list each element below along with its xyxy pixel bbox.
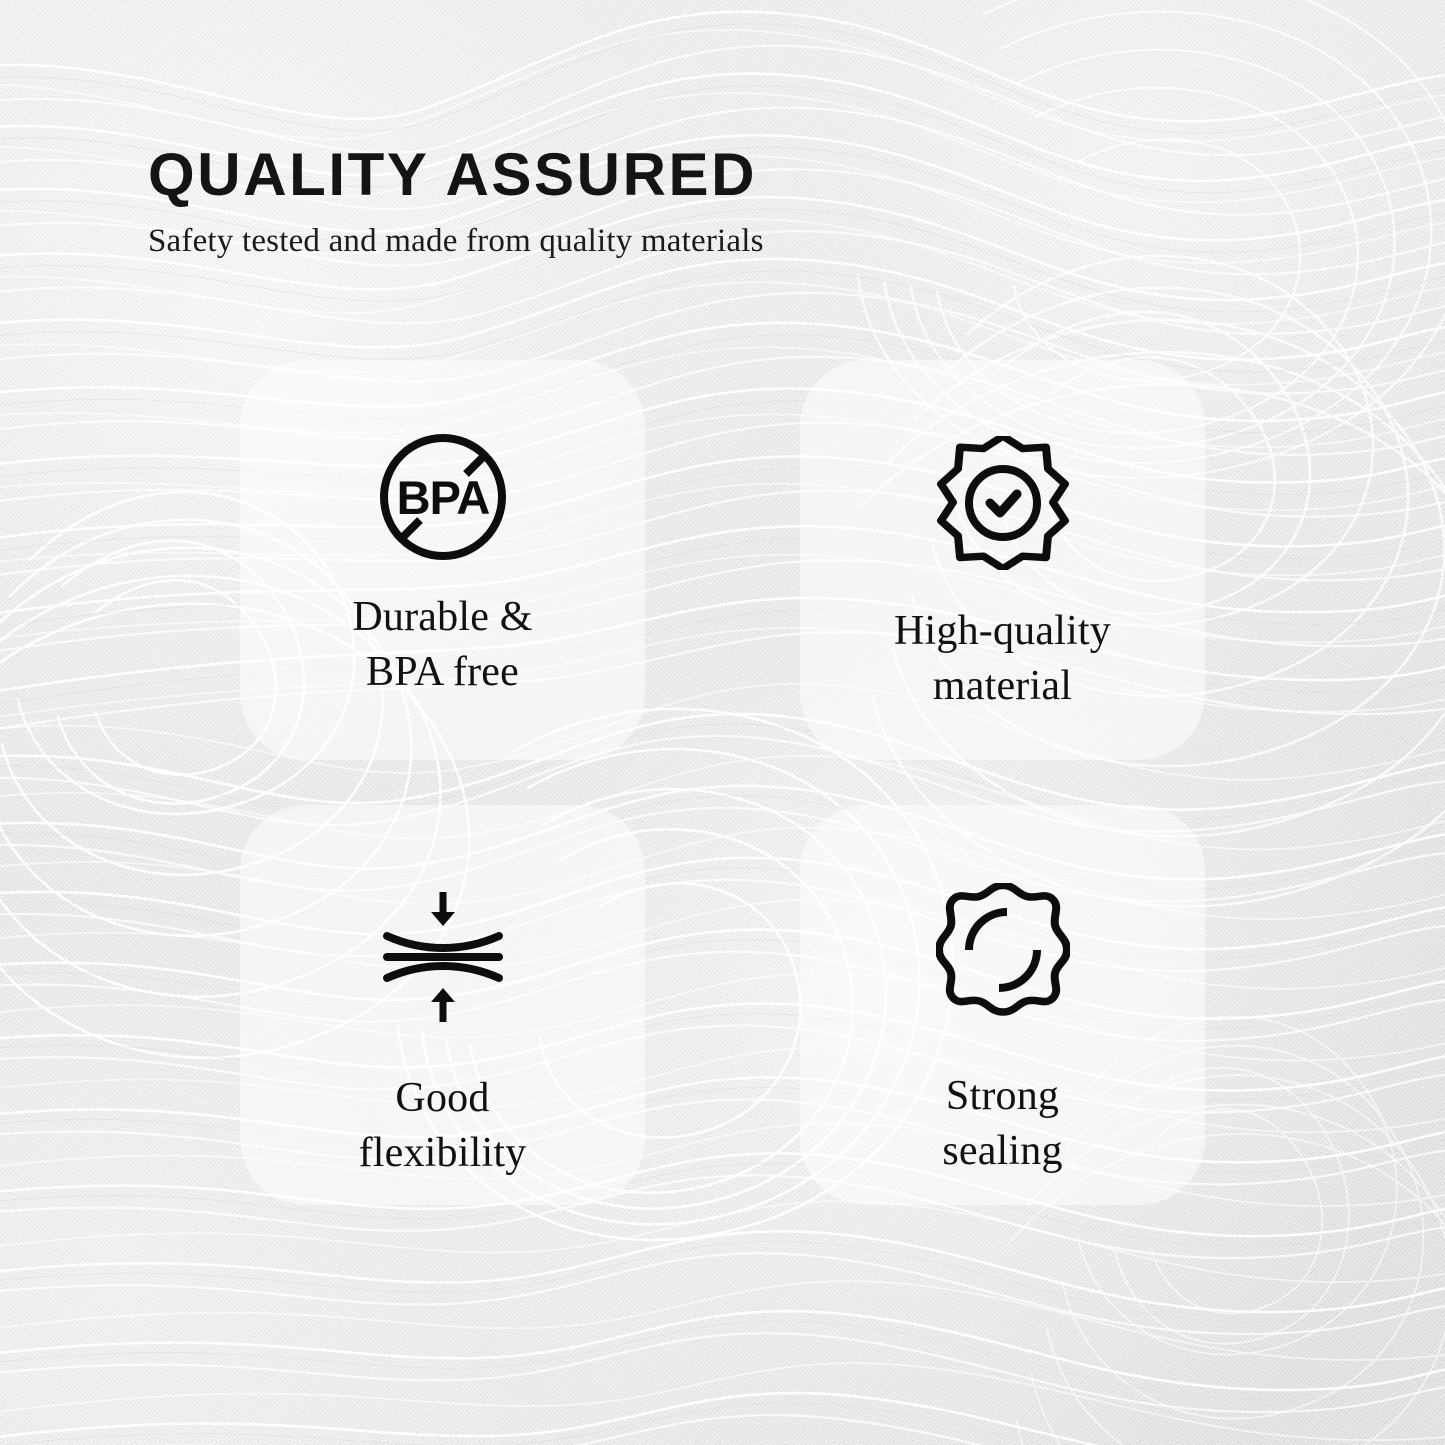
quality-assured-infographic: QUALITY ASSURED Safety tested and made f… bbox=[0, 0, 1445, 1445]
feature-card-good-flexibility[interactable]: Good flexibility bbox=[240, 805, 645, 1205]
feature-card-label: Strong sealing bbox=[942, 1069, 1062, 1178]
header: QUALITY ASSURED Safety tested and made f… bbox=[148, 144, 1248, 259]
feature-card-label: Good flexibility bbox=[359, 1071, 527, 1180]
feature-card-label: Durable & BPA free bbox=[352, 590, 532, 699]
feature-card-strong-sealing[interactable]: Strong sealing bbox=[800, 805, 1205, 1205]
feature-card-label: High-quality material bbox=[894, 604, 1111, 713]
quality-badge-check-icon bbox=[928, 428, 1078, 578]
bpa-free-icon: BPA bbox=[368, 422, 518, 572]
feature-card-durable-bpa-free[interactable]: BPA Durable & BPA free bbox=[240, 360, 645, 760]
page-subtitle: Safety tested and made from quality mate… bbox=[148, 223, 1248, 259]
page-title: QUALITY ASSURED bbox=[148, 144, 1248, 205]
svg-text:BPA: BPA bbox=[396, 471, 489, 524]
feature-card-grid: BPA Durable & BPA free High-quality mate… bbox=[240, 360, 1205, 1205]
seal-rosette-icon bbox=[928, 875, 1078, 1025]
feature-card-high-quality-material[interactable]: High-quality material bbox=[800, 360, 1205, 760]
flexibility-arrows-icon bbox=[368, 881, 518, 1031]
